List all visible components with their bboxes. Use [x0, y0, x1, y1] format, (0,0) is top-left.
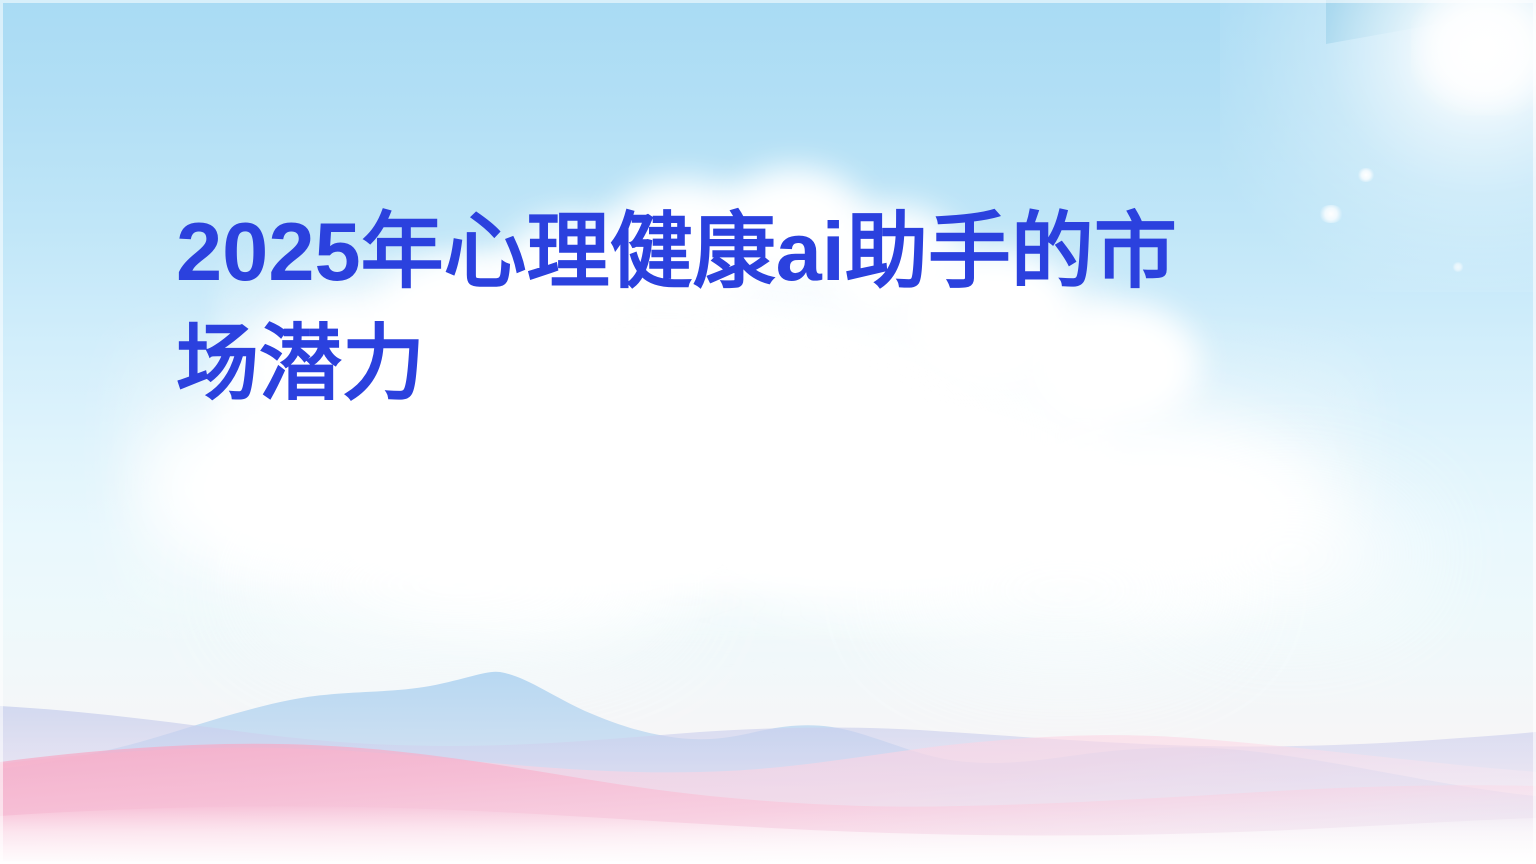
sky-background: [0, 0, 1536, 864]
title-line-1: 2025年心理健康ai助手的市: [176, 196, 1236, 308]
title-line-2: 场潜力: [176, 308, 1236, 420]
title-slide: 2025年心理健康ai助手的市 场潜力: [0, 0, 1536, 864]
slide-title: 2025年心理健康ai助手的市 场潜力: [176, 196, 1236, 420]
